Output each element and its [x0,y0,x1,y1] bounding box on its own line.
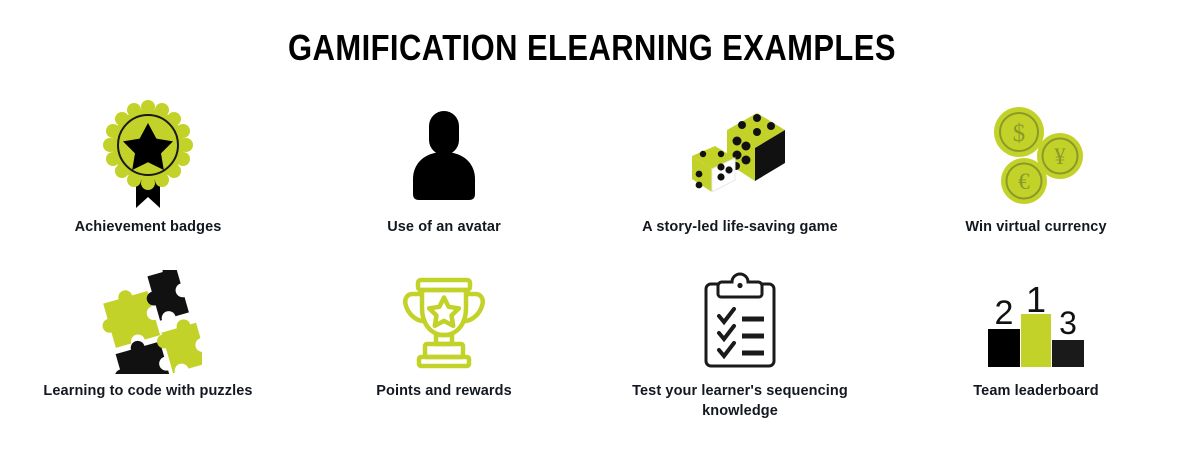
award-badge-icon [102,100,194,212]
infographic-page: GAMIFICATION ELEARNING EXAMPLES [0,0,1184,452]
example-card-points-and-rewards[interactable]: Points and rewards [296,268,592,436]
example-card-win-virtual-currency[interactable]: $ ¥ € Win virtual currency [888,100,1184,268]
podium-icon: 2 1 3 [984,268,1088,376]
example-label: Team leaderboard [973,382,1098,402]
example-label: Test your learner's sequencing knowledge [625,382,855,421]
podium-rank-2: 2 [995,294,1014,332]
podium-block-3 [1052,340,1084,367]
example-card-learning-to-code-with-puzzles[interactable]: Learning to code with puzzles [0,268,296,436]
page-title: GAMIFICATION ELEARNING EXAMPLES [83,27,1101,69]
podium-rank-3: 3 [1059,305,1077,341]
coin-symbol-euro: € [1018,169,1030,194]
avatar-person-icon [398,100,490,212]
examples-grid: Achievement badges Use of an avatar [0,100,1184,436]
podium-block-1 [1021,314,1051,367]
dice-pair-icon [685,100,795,212]
trophy-icon [396,268,492,376]
example-label: A story-led life-saving game [642,218,838,238]
example-label: Achievement badges [75,218,222,238]
example-label: Points and rewards [376,382,512,402]
example-card-team-leaderboard[interactable]: 2 1 3 Team leaderboard [888,268,1184,436]
clipboard-checklist-icon [697,268,783,376]
example-label: Learning to code with puzzles [43,382,252,402]
example-label: Win virtual currency [965,218,1106,238]
coins-icon: $ ¥ € [982,100,1090,212]
example-card-achievement-badges[interactable]: Achievement badges [0,100,296,268]
example-card-story-led-life-saving-game[interactable]: A story-led life-saving game [592,100,888,268]
coin-symbol-dollar: $ [1013,120,1026,147]
example-card-test-sequencing-knowledge[interactable]: Test your learner's sequencing knowledge [592,268,888,436]
coin-symbol-yen: ¥ [1054,144,1066,169]
podium-block-2 [988,329,1020,367]
puzzle-pieces-icon [94,268,202,376]
podium-rank-1: 1 [1026,279,1046,320]
example-label: Use of an avatar [387,218,501,238]
example-card-use-of-an-avatar[interactable]: Use of an avatar [296,100,592,268]
